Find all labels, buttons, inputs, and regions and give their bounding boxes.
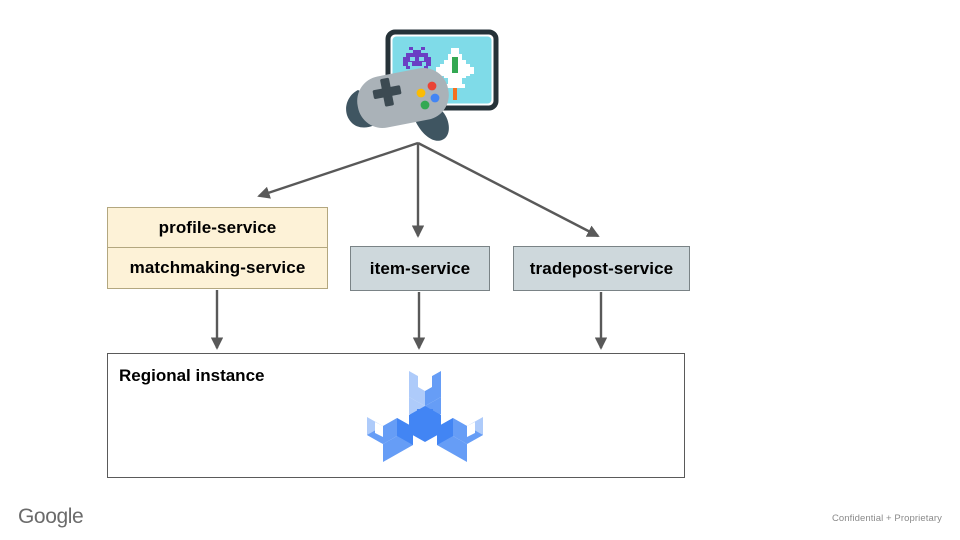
- button-blue: [431, 94, 440, 103]
- node-tradepost-service-label: tradepost-service: [530, 259, 673, 279]
- game-servers-icon: [365, 367, 485, 467]
- node-item-service[interactable]: item-service: [350, 246, 490, 291]
- google-logo: Google: [18, 505, 83, 529]
- node-matchmaking-service[interactable]: matchmaking-service: [107, 248, 328, 289]
- hub-stem: [417, 409, 433, 431]
- regional-instance-container[interactable]: Regional instance: [107, 353, 685, 478]
- slide-canvas: profile-service matchmaking-service item…: [0, 0, 960, 540]
- button-red: [428, 82, 437, 91]
- arrow-game-to-tradepost: [418, 143, 598, 236]
- node-profile-service-label: profile-service: [159, 218, 277, 238]
- arrow-game-to-profile: [259, 143, 418, 196]
- rocket-window: [452, 57, 458, 73]
- node-profile-service[interactable]: profile-service: [107, 207, 328, 248]
- rocket-flame: [453, 88, 457, 100]
- game-illustration: [340, 28, 510, 146]
- button-yellow: [417, 89, 426, 98]
- node-matchmaking-service-label: matchmaking-service: [130, 258, 306, 278]
- button-green: [421, 101, 430, 110]
- node-item-service-label: item-service: [370, 259, 470, 279]
- confidential-note: Confidential + Proprietary: [832, 513, 942, 524]
- regional-instance-label: Regional instance: [119, 366, 264, 386]
- node-tradepost-service[interactable]: tradepost-service: [513, 246, 690, 291]
